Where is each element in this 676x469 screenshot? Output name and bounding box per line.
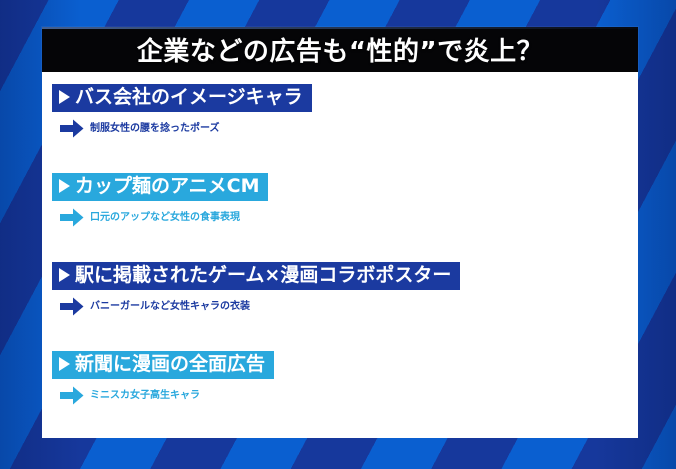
item-detail-2: 口元のアップなど女性の食事表現 [42,207,638,228]
item-detail-label: 制服女性の腰を捻ったポーズ [90,123,220,134]
item-detail-4: ミニスカ女子高生キャラ [42,385,638,406]
title-bar: 企業などの広告も“性的”で炎上？ [42,27,638,72]
list-item: カップ麺のアニメCM 口元のアップなど女性の食事表現 [42,173,638,228]
screen-root: 企業などの広告も“性的”で炎上？ バス会社のイメージキャラ 制服女性の腰を捻った… [0,0,676,469]
item-detail-label: ミニスカ女子高生キャラ [90,390,200,401]
arrow-right-icon [60,118,84,139]
item-heading-label: 新聞に漫画の全面広告 [75,354,265,375]
item-heading-label: バス会社のイメージキャラ [75,87,303,108]
item-detail-label: 口元のアップなど女性の食事表現 [90,212,240,223]
arrow-right-icon [60,296,84,317]
play-triangle-icon [59,90,70,104]
content-card: バス会社のイメージキャラ 制服女性の腰を捻ったポーズ カップ麺のアニメCM 口元… [42,72,638,438]
item-heading-bar-1: バス会社のイメージキャラ [52,84,312,112]
list-item: バス会社のイメージキャラ 制服女性の腰を捻ったポーズ [42,84,638,139]
item-detail-label: バニーガールなど女性キャラの衣装 [90,301,250,312]
list-item: 新聞に漫画の全面広告 ミニスカ女子高生キャラ [42,351,638,406]
play-triangle-icon [59,179,70,193]
list-item: 駅に掲載されたゲーム×漫画コラボポスター バニーガールなど女性キャラの衣装 [42,262,638,317]
play-triangle-icon [59,357,70,371]
item-detail-3: バニーガールなど女性キャラの衣装 [42,296,638,317]
item-heading-label: 駅に掲載されたゲーム×漫画コラボポスター [75,265,451,286]
item-heading-bar-3: 駅に掲載されたゲーム×漫画コラボポスター [52,262,460,290]
item-heading-bar-2: カップ麺のアニメCM [52,173,268,201]
item-heading-label: カップ麺のアニメCM [75,176,259,197]
page-title: 企業などの広告も“性的”で炎上？ [137,31,543,68]
item-detail-1: 制服女性の腰を捻ったポーズ [42,118,638,139]
arrow-right-icon [60,207,84,228]
play-triangle-icon [59,268,70,282]
arrow-right-icon [60,385,84,406]
title-bar-highlight [42,27,638,29]
item-heading-bar-4: 新聞に漫画の全面広告 [52,351,274,379]
